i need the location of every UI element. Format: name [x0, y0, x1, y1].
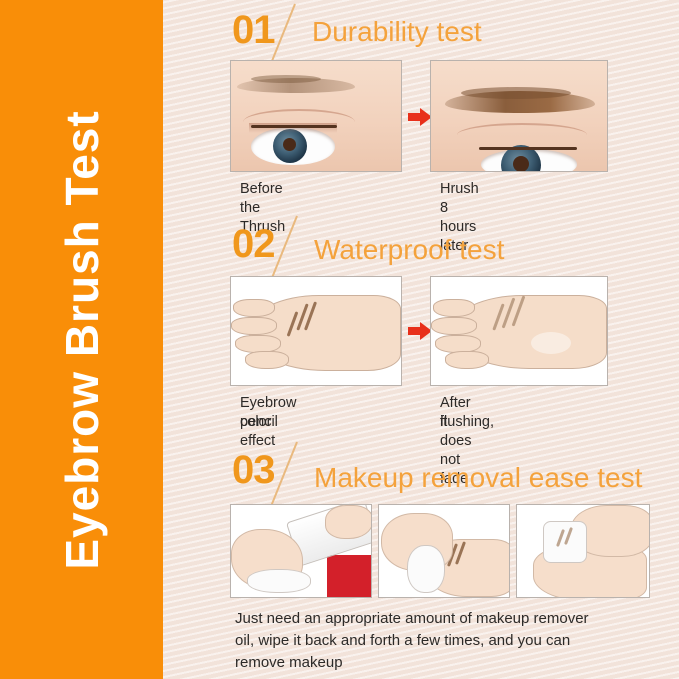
pupil: [513, 156, 529, 172]
finger-2: [231, 317, 277, 335]
hand-white-background: [231, 277, 401, 385]
section-02-number: 02: [232, 222, 275, 266]
photo-step-result: [516, 504, 650, 598]
step-1-scene: [231, 505, 371, 597]
caption-pencil-color-effect-line2: color effect: [240, 413, 275, 451]
finger-1: [433, 299, 475, 317]
section-03-number: 03: [232, 448, 275, 492]
eyeball: [481, 149, 577, 172]
right-arrow-icon: [408, 108, 432, 126]
finger-2: [431, 317, 477, 335]
photo-step-pour-remover: [230, 504, 372, 598]
finger-4: [445, 351, 489, 369]
eyelash-line: [479, 147, 577, 150]
section-01-title: Durability test: [312, 10, 482, 54]
hand-white-background: [431, 277, 607, 385]
eyelash-line: [251, 125, 337, 128]
removal-description-line-2: oil, wipe it back and forth a few times,…: [235, 630, 665, 652]
eyelid-crease: [457, 123, 587, 147]
red-cloth: [327, 555, 371, 597]
photo-before-thrush: [230, 60, 402, 172]
finger-1: [233, 299, 275, 317]
cotton-pad: [247, 569, 311, 593]
iris: [273, 129, 307, 163]
photo-after-8-hours: [430, 60, 608, 172]
section-02-title: Waterproof test: [314, 228, 504, 272]
step-2-scene: [379, 505, 509, 597]
removal-description-line-1: Just need an appropriate amount of makeu…: [235, 608, 665, 630]
removal-description-line-3: remove makeup: [235, 652, 665, 674]
step-3-scene: [517, 505, 649, 597]
cotton-pad: [407, 545, 445, 593]
side-banner-title: Eyebrow Brush Test: [55, 110, 109, 569]
photo-pencil-color-effect: [230, 276, 402, 386]
section-01-number: 01: [232, 8, 275, 52]
pouring-hand: [325, 505, 371, 539]
pupil: [283, 138, 296, 151]
finger-4: [245, 351, 289, 369]
eyebrow-filled-detail: [461, 87, 571, 99]
right-arrow-icon: [408, 322, 432, 340]
eyebrow-natural-detail: [251, 75, 321, 83]
water-sheen: [531, 332, 571, 354]
infographic-page: Eyebrow Brush Test 01 Durability test: [0, 0, 679, 679]
photo-after-flushing: [430, 276, 608, 386]
section-03-title: Makeup removal ease test: [314, 456, 642, 500]
side-banner: Eyebrow Brush Test: [0, 0, 163, 679]
photo-step-wipe: [378, 504, 510, 598]
